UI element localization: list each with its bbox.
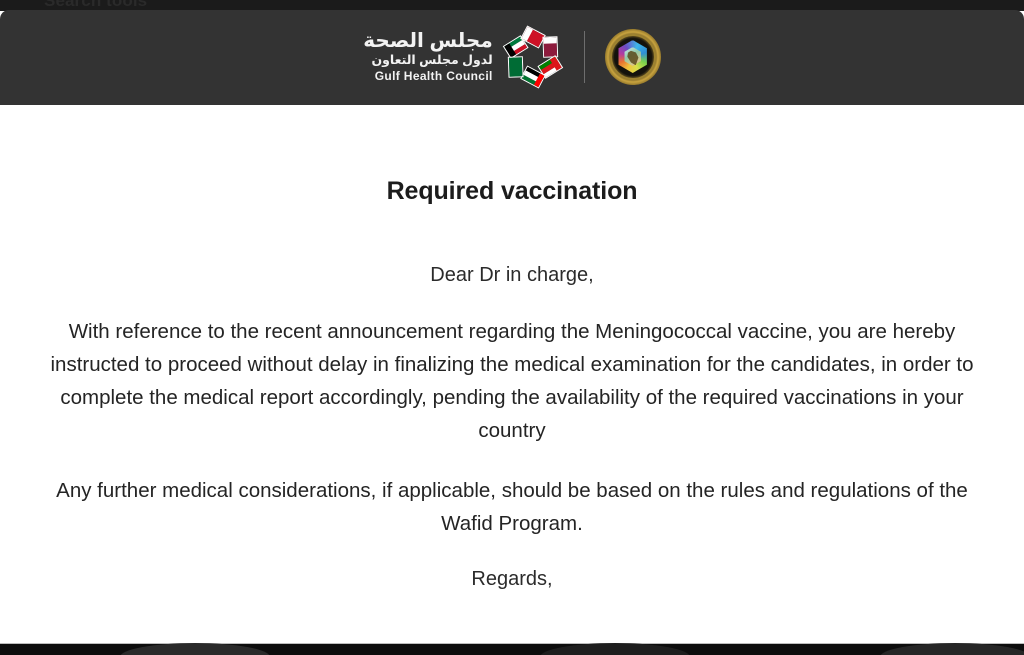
header-logo-lockup: مجلس الصحة لدول مجلس التعاون Gulf Health… (363, 26, 660, 88)
flag-chip-saudi-arabia (508, 56, 524, 78)
letter-paragraph-2: Any further medical considerations, if a… (42, 474, 982, 540)
letter-body: Required vaccination Dear Dr in charge, … (0, 105, 1024, 643)
bottom-shape-left (120, 643, 270, 655)
page-root: Search tools مجلس الصحة لدول مجلس التعاو… (0, 0, 1024, 655)
ghc-wordmark: مجلس الصحة لدول مجلس التعاون Gulf Health… (363, 31, 492, 82)
bottom-hairline (0, 643, 1024, 644)
bottom-shape-right (880, 643, 1024, 655)
gulf-health-council-logo: مجلس الصحة لدول مجلس التعاون Gulf Health… (363, 26, 563, 88)
letter-title: Required vaccination (32, 177, 992, 206)
gcc-emblem-icon (605, 29, 661, 85)
gcc-flags-pinwheel-icon (502, 26, 564, 88)
ghc-english-line: Gulf Health Council (363, 70, 492, 82)
bottom-clipped-strip (0, 643, 1024, 655)
ghc-arabic-line1: مجلس الصحة (363, 31, 492, 51)
letter-salutation: Dear Dr in charge, (32, 264, 992, 287)
document-header-band: مجلس الصحة لدول مجلس التعاون Gulf Health… (0, 10, 1024, 105)
logo-divider (584, 31, 585, 83)
bottom-shape-center (540, 643, 690, 655)
ghc-arabic-line2: لدول مجلس التعاون (363, 54, 492, 67)
letter-paragraph-1: With reference to the recent announcemen… (45, 315, 980, 447)
letter-content: Required vaccination Dear Dr in charge, … (32, 177, 992, 591)
letter-signoff: Regards, (32, 568, 992, 591)
flag-chip-qatar (542, 36, 558, 58)
